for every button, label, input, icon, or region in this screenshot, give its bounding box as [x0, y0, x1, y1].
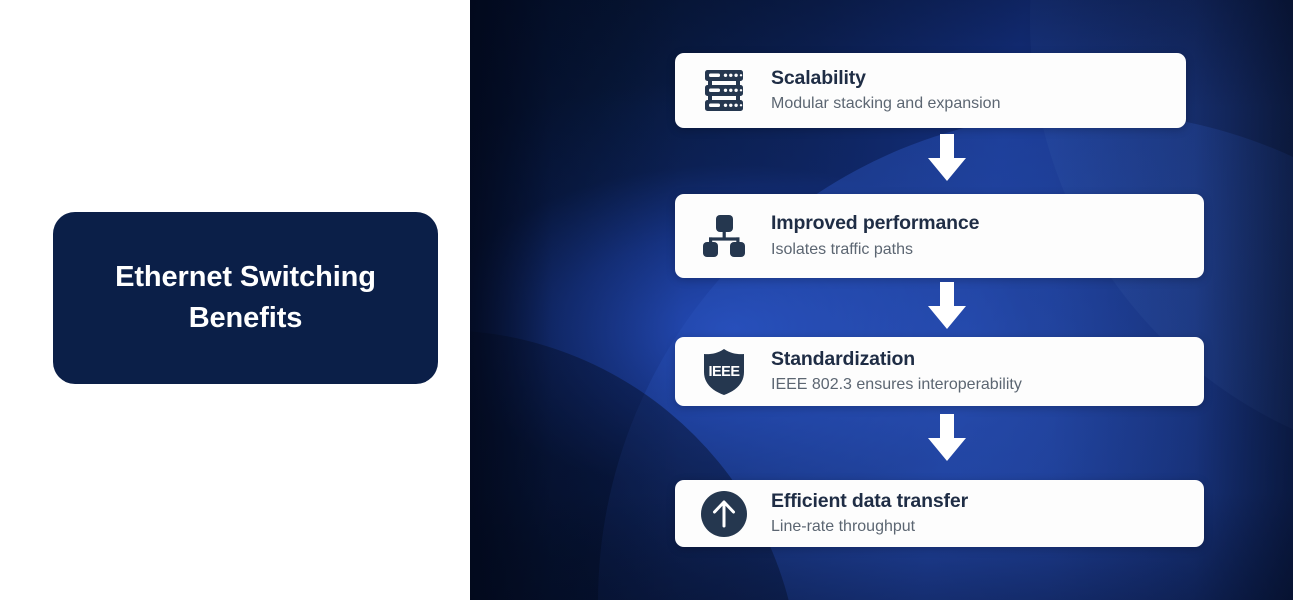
right-panel: Scalability Modular stacking and expansi…: [470, 0, 1293, 600]
title-card: Ethernet Switching Benefits: [53, 212, 438, 384]
server-rack-icon: [695, 62, 753, 120]
benefit-title: Efficient data transfer: [771, 489, 968, 513]
left-panel: Ethernet Switching Benefits: [0, 0, 470, 600]
benefit-subtitle: IEEE 802.3 ensures interoperability: [771, 375, 1022, 396]
arrow-down-icon: [925, 134, 969, 184]
benefit-title: Scalability: [771, 66, 1000, 90]
infographic-root: Ethernet Switching Benefits: [0, 0, 1293, 600]
benefit-card-text: Efficient data transfer Line-rate throug…: [771, 489, 968, 538]
ieee-shield-icon: IEEE: [695, 343, 753, 401]
benefit-title: Improved performance: [771, 211, 979, 235]
benefit-card-efficient-data-transfer[interactable]: Efficient data transfer Line-rate throug…: [675, 480, 1204, 547]
benefit-card-standardization[interactable]: IEEE Standardization IEEE 802.3 ensures …: [675, 337, 1204, 406]
page-title: Ethernet Switching Benefits: [75, 257, 416, 339]
arrow-up-circle-icon: [695, 485, 753, 543]
benefit-subtitle: Line-rate throughput: [771, 517, 968, 538]
benefit-title: Standardization: [771, 347, 1022, 371]
sitemap-hierarchy-icon: [695, 207, 753, 265]
benefit-subtitle: Modular stacking and expansion: [771, 94, 1000, 115]
shield-label: IEEE: [708, 364, 740, 380]
benefit-card-text: Scalability Modular stacking and expansi…: [771, 66, 1000, 115]
benefit-card-text: Standardization IEEE 802.3 ensures inter…: [771, 347, 1022, 396]
benefits-flow: Scalability Modular stacking and expansi…: [470, 0, 1293, 600]
benefit-card-scalability[interactable]: Scalability Modular stacking and expansi…: [675, 53, 1186, 128]
arrow-down-icon: [925, 282, 969, 332]
arrow-down-icon: [925, 414, 969, 464]
benefit-card-improved-performance[interactable]: Improved performance Isolates traffic pa…: [675, 194, 1204, 278]
benefit-card-text: Improved performance Isolates traffic pa…: [771, 211, 979, 260]
benefit-subtitle: Isolates traffic paths: [771, 240, 979, 261]
